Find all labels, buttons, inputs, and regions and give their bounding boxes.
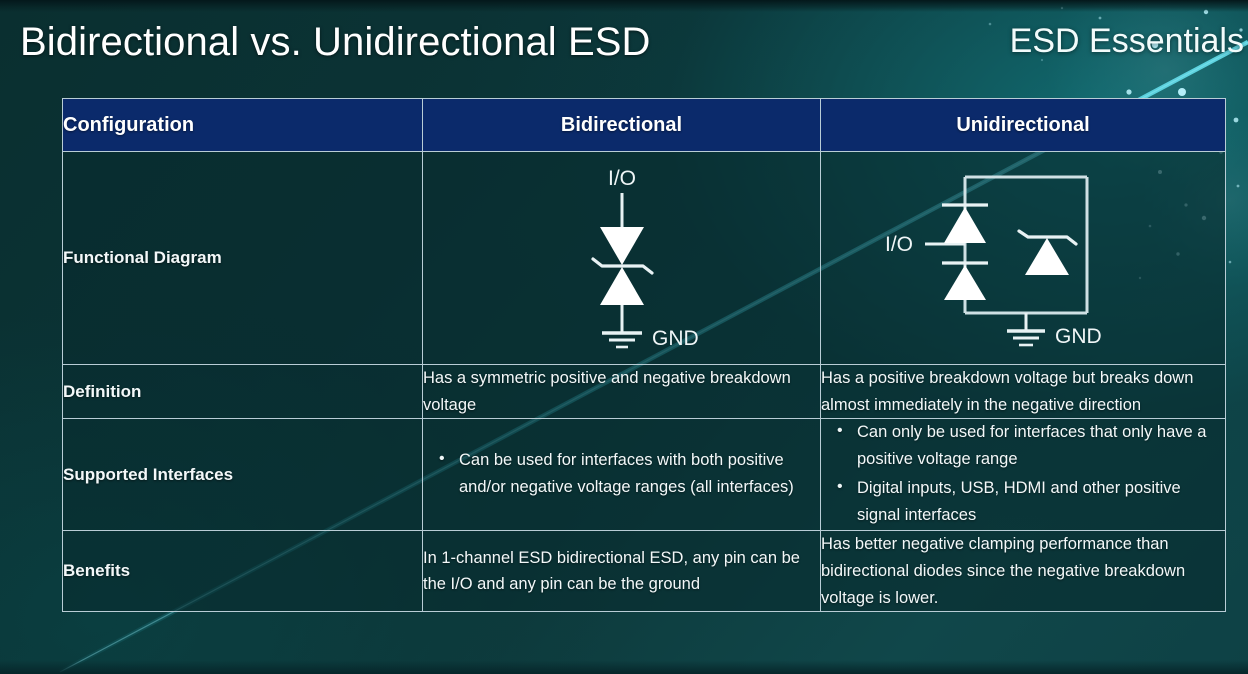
row-label-benefits: Benefits (63, 531, 423, 612)
title-bar: Bidirectional vs. Unidirectional ESD ESD… (0, 14, 1248, 78)
definition-bidirectional: Has a symmetric positive and negative br… (423, 365, 821, 419)
column-header-configuration: Configuration (63, 99, 423, 152)
table-row: Functional Diagram I/O (63, 152, 1226, 365)
comparison-table: Configuration Bidirectional Unidirection… (62, 98, 1226, 612)
unidirectional-functional-diagram: I/O (821, 152, 1226, 365)
list-item: Digital inputs, USB, HDMI and other posi… (841, 475, 1225, 528)
supported-interfaces-unidirectional: Can only be used for interfaces that onl… (821, 419, 1226, 531)
row-label-functional-diagram: Functional Diagram (63, 152, 423, 365)
top-vignette (0, 0, 1248, 12)
table-row: Benefits In 1-channel ESD bidirectional … (63, 531, 1226, 612)
slide-canvas: Bidirectional vs. Unidirectional ESD ESD… (0, 0, 1248, 674)
bottom-vignette (0, 660, 1248, 674)
uni-io-label: I/O (885, 233, 913, 256)
page-title: Bidirectional vs. Unidirectional ESD (20, 20, 651, 65)
bidi-gnd-label: GND (652, 327, 699, 350)
definition-unidirectional: Has a positive breakdown voltage but bre… (821, 365, 1226, 419)
supported-interfaces-bidirectional: Can be used for interfaces with both pos… (423, 419, 821, 531)
unidirectional-bullet-list: Can only be used for interfaces that onl… (821, 419, 1225, 528)
column-header-unidirectional: Unidirectional (821, 99, 1226, 152)
row-label-supported-interfaces: Supported Interfaces (63, 419, 423, 531)
list-item: Can only be used for interfaces that onl… (841, 419, 1225, 472)
list-item: Can be used for interfaces with both pos… (443, 447, 820, 500)
row-label-definition: Definition (63, 365, 423, 419)
deck-label: ESD Essentials (1010, 22, 1244, 61)
bidirectional-functional-diagram: I/O GN (423, 152, 821, 365)
uni-gnd-label: GND (1055, 325, 1102, 348)
table-header-row: Configuration Bidirectional Unidirection… (63, 99, 1226, 152)
benefits-unidirectional: Has better negative clamping performance… (821, 531, 1226, 612)
column-header-bidirectional: Bidirectional (423, 99, 821, 152)
table-row: Supported Interfaces Can be used for int… (63, 419, 1226, 531)
bidirectional-bullet-list: Can be used for interfaces with both pos… (423, 447, 820, 500)
table-header: Configuration Bidirectional Unidirection… (63, 99, 1226, 152)
bidi-io-label: I/O (607, 167, 635, 190)
table-row: Definition Has a symmetric positive and … (63, 365, 1226, 419)
table-body: Functional Diagram I/O (63, 152, 1226, 612)
benefits-bidirectional: In 1-channel ESD bidirectional ESD, any … (423, 531, 821, 612)
